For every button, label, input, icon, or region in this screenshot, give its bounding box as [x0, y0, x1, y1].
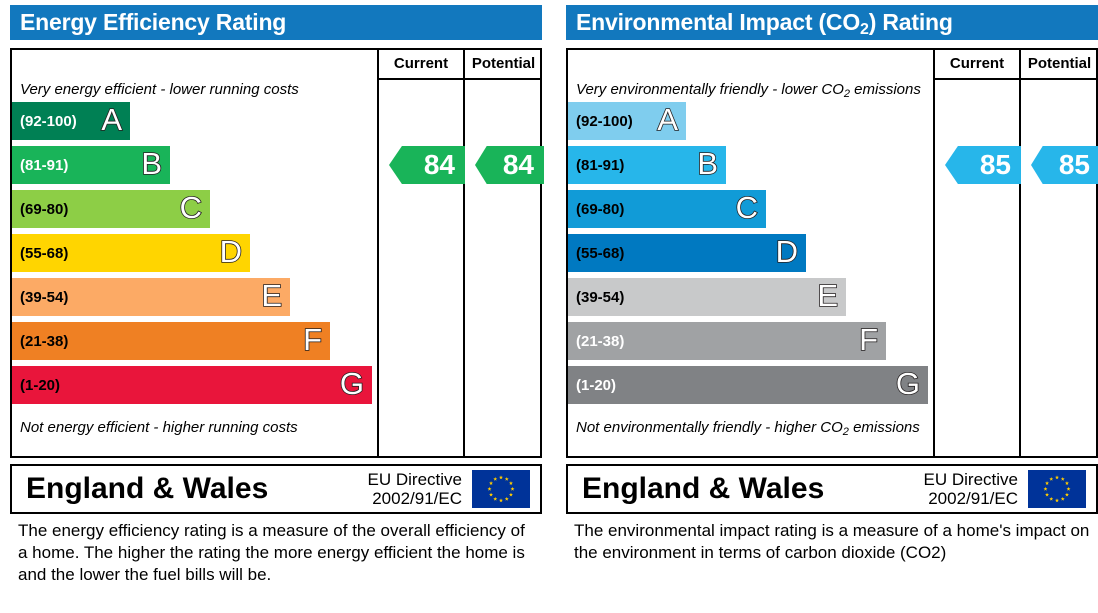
panel-caption: The energy efficiency rating is a measur… [18, 520, 538, 586]
band-letter-label: B [141, 148, 170, 179]
panel-title-suffix: ) Rating [869, 9, 953, 35]
band-range-label: (55-68) [568, 245, 624, 262]
note-top-prefix: Very environmentally friendly - lower CO [576, 81, 844, 98]
band-bar-f: (21-38)F [568, 322, 886, 360]
band-bar-d: (55-68)D [12, 234, 250, 272]
band-range-label: (21-38) [568, 333, 624, 350]
column-divider-potential [1019, 50, 1021, 456]
rating-arrow-potential: 85 [1031, 146, 1098, 184]
column-divider-potential [463, 50, 465, 456]
panel-title: Environmental Impact (CO2) Rating [566, 5, 1098, 40]
eu-flag-icon [1028, 470, 1086, 508]
rating-arrow-current: 84 [389, 146, 465, 184]
eu-directive-text: EU Directive 2002/91/EC [924, 470, 1018, 508]
panel-title-prefix: Environmental Impact (CO [576, 9, 860, 35]
column-header-potential: Potential [1021, 50, 1098, 78]
band-letter-label: B [697, 148, 726, 179]
panel-title: Energy Efficiency Rating [10, 5, 542, 40]
band-bar-f: (21-38)F [12, 322, 330, 360]
band-letter-label: C [736, 192, 766, 223]
eu-directive-text: EU Directive 2002/91/EC [368, 470, 462, 508]
region-footer: England & Wales EU Directive 2002/91/EC [10, 464, 542, 514]
band-bar-c: (69-80)C [12, 190, 210, 228]
region-label: England & Wales [582, 472, 824, 506]
note-top-subscript: 2 [844, 88, 850, 100]
band-range-label: (81-91) [568, 157, 624, 174]
band-range-label: (39-54) [568, 289, 624, 306]
rating-arrow-current: 85 [945, 146, 1021, 184]
rating-value-potential: 85 [1059, 149, 1090, 181]
eu-directive-line1: EU Directive [924, 470, 1018, 489]
panel-caption: The environmental impact rating is a mea… [574, 520, 1094, 564]
column-header-current: Current [379, 50, 463, 78]
band-bar-d: (55-68)D [568, 234, 806, 272]
note-top-suffix: emissions [850, 81, 921, 98]
rating-chart-box: Current Potential Very environmentally f… [566, 48, 1098, 458]
band-letter-label: A [657, 104, 686, 135]
band-letter-label: C [180, 192, 210, 223]
band-letter-label: G [340, 368, 372, 399]
epc-chart-page: Energy Efficiency Rating Current Potenti… [0, 0, 1098, 613]
eu-directive-line1: EU Directive [368, 470, 462, 489]
note-top: Very energy efficient - lower running co… [20, 81, 299, 98]
band-bar-c: (69-80)C [568, 190, 766, 228]
column-divider-current [377, 50, 379, 456]
band-bar-e: (39-54)E [568, 278, 846, 316]
band-letter-label: D [220, 236, 250, 267]
band-range-label: (92-100) [12, 113, 77, 130]
note-top: Very environmentally friendly - lower CO… [576, 81, 921, 98]
band-bar-e: (39-54)E [12, 278, 290, 316]
band-range-label: (1-20) [568, 377, 616, 394]
eu-flag-icon [472, 470, 530, 508]
header-row-rule [377, 78, 542, 80]
band-letter-label: E [817, 280, 846, 311]
band-range-label: (69-80) [568, 201, 624, 218]
band-letter-label: F [303, 324, 330, 355]
rating-arrow-potential: 84 [475, 146, 544, 184]
environmental-impact-panel: Environmental Impact (CO2) Rating Curren… [556, 0, 1098, 613]
band-range-label: (81-91) [12, 157, 68, 174]
band-bars: (92-100)A(81-91)B(69-80)C(55-68)D(39-54)… [12, 102, 375, 416]
band-bar-b: (81-91)B [568, 146, 726, 184]
band-bar-a: (92-100)A [568, 102, 686, 140]
note-bottom-subscript: 2 [843, 426, 849, 438]
region-footer: England & Wales EU Directive 2002/91/EC [566, 464, 1098, 514]
rating-value-current: 85 [980, 149, 1011, 181]
band-range-label: (69-80) [12, 201, 68, 218]
rating-value-potential: 84 [503, 149, 534, 181]
band-bar-g: (1-20)G [12, 366, 372, 404]
band-bar-a: (92-100)A [12, 102, 130, 140]
eu-directive-line2: 2002/91/EC [924, 489, 1018, 508]
band-bar-b: (81-91)B [12, 146, 170, 184]
column-divider-current [933, 50, 935, 456]
band-letter-label: A [101, 104, 130, 135]
eu-directive-line2: 2002/91/EC [368, 489, 462, 508]
note-bottom: Not environmentally friendly - higher CO… [576, 419, 920, 436]
band-letter-label: E [261, 280, 290, 311]
band-letter-label: F [859, 324, 886, 355]
rating-chart-box: Current Potential Very energy efficient … [10, 48, 542, 458]
region-label: England & Wales [26, 472, 268, 506]
column-header-current: Current [935, 50, 1019, 78]
band-letter-label: D [776, 236, 806, 267]
band-letter-label: G [896, 368, 928, 399]
band-bars: (92-100)A(81-91)B(69-80)C(55-68)D(39-54)… [568, 102, 931, 416]
note-bottom: Not energy efficient - higher running co… [20, 419, 298, 436]
band-bar-g: (1-20)G [568, 366, 928, 404]
band-range-label: (1-20) [12, 377, 60, 394]
band-range-label: (21-38) [12, 333, 68, 350]
band-range-label: (39-54) [12, 289, 68, 306]
band-range-label: (55-68) [12, 245, 68, 262]
energy-efficiency-panel: Energy Efficiency Rating Current Potenti… [0, 0, 542, 613]
header-row-rule [933, 78, 1098, 80]
column-header-potential: Potential [465, 50, 542, 78]
note-bottom-suffix: emissions [849, 419, 920, 436]
band-range-label: (92-100) [568, 113, 633, 130]
note-bottom-prefix: Not environmentally friendly - higher CO [576, 419, 843, 436]
rating-value-current: 84 [424, 149, 455, 181]
panel-title-subscript: 2 [860, 21, 869, 38]
